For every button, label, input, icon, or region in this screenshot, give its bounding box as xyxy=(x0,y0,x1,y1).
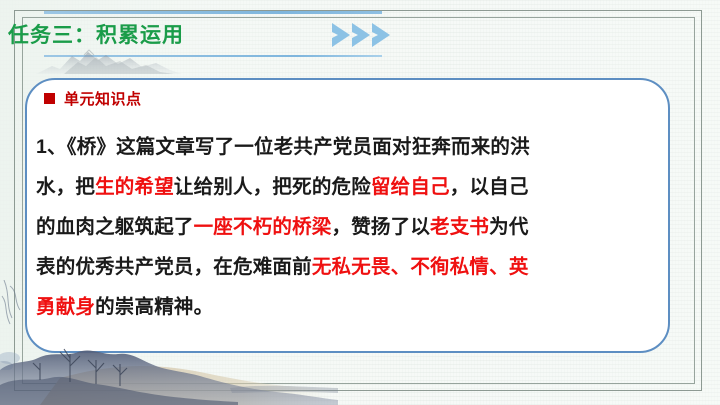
highlighted-text-run: 勇献身 xyxy=(36,296,95,318)
text-run: 的血肉之躯筑起了 xyxy=(36,216,194,238)
highlighted-text-run: 一座不朽的桥梁 xyxy=(194,216,332,238)
text-run: ，赞扬了以 xyxy=(332,216,431,238)
text-run: ，以自己 xyxy=(450,176,529,198)
paragraph-line: 1、《桥》这篇文章写了一位老共产党员面对狂奔而来的洪 xyxy=(36,127,656,167)
header-rule-bottom xyxy=(44,55,382,57)
text-run: 水，把 xyxy=(36,176,95,198)
section-heading-label: 单元知识点 xyxy=(64,88,142,109)
red-square-bullet-icon xyxy=(44,93,55,104)
slide-canvas: 任务三：积累运用 单元知识点 1、《桥》这篇文章写了一位老共产党员面对狂奔而来的… xyxy=(0,0,720,405)
header-rule-top xyxy=(44,11,382,14)
text-run: 为代 xyxy=(489,216,528,238)
paragraph-line: 水，把生的希望让给别人，把死的危险留给自己，以自己 xyxy=(36,167,656,207)
highlighted-text-run: 生的希望 xyxy=(95,176,174,198)
page-title: 任务三：积累运用 xyxy=(8,19,184,49)
text-run: 1、《桥》这篇文章写了一位老共产党员面对狂奔而来的洪 xyxy=(36,136,530,158)
paragraph-line: 的血肉之躯筑起了一座不朽的桥梁，赞扬了以老支书为代 xyxy=(36,207,656,247)
paragraph-line: 表的优秀共产党员，在危难面前无私无畏、不徇私情、英 xyxy=(36,247,656,287)
highlighted-text-run: 留给自己 xyxy=(371,176,450,198)
section-heading-row: 单元知识点 xyxy=(44,88,142,109)
knowledge-point-paragraph: 1、《桥》这篇文章写了一位老共产党员面对狂奔而来的洪水，把生的希望让给别人，把死… xyxy=(36,127,656,327)
highlighted-text-run: 无私无畏、不徇私情、英 xyxy=(312,256,529,278)
ink-wash-mountain-icon xyxy=(34,44,184,78)
text-run: 表的优秀共产党员，在危难面前 xyxy=(36,256,312,278)
paragraph-line: 勇献身的崇高精神。 xyxy=(36,287,656,327)
triple-chevron-right-icon xyxy=(330,20,420,50)
text-run: 让给别人，把死的危险 xyxy=(174,176,371,198)
highlighted-text-run: 老支书 xyxy=(430,216,489,238)
text-run: 的崇高精神。 xyxy=(95,296,213,318)
